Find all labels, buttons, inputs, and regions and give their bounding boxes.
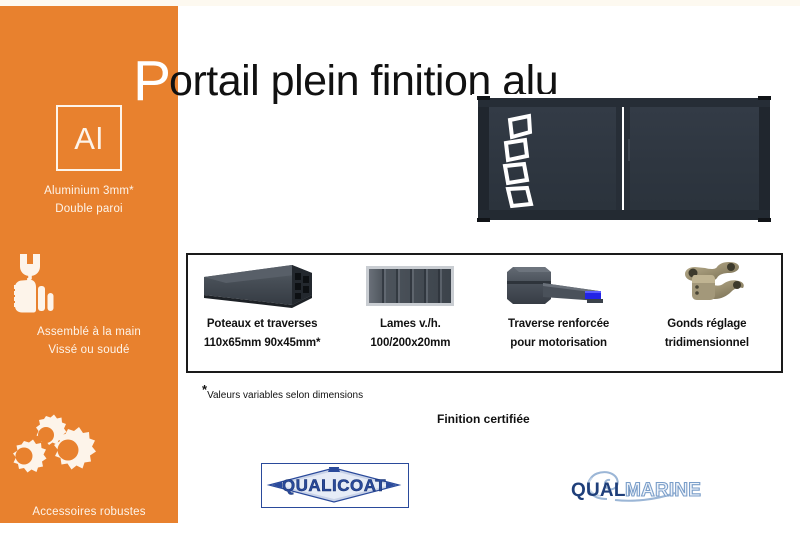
- gate-photo: [472, 94, 783, 228]
- product-item-lames-dimensions: 100/200x20mm: [370, 335, 450, 352]
- gears-icon: [0, 410, 178, 490]
- sidebar-feature-accessories-line1: Accessoires robustes: [0, 504, 178, 522]
- sidebar-feature-aluminium: Al Aluminium 3mm* Double paroi: [0, 105, 178, 219]
- product-item-poteaux: Poteaux et traverses 110x65mm 90x45mm*: [188, 255, 336, 371]
- product-item-traverse-name: Traverse renforcée: [508, 316, 609, 333]
- sidebar-feature-aluminium-line2: Double paroi: [0, 201, 178, 219]
- aluminium-square-icon: Al: [0, 105, 178, 171]
- svg-text:QUALICOAT: QUALICOAT: [282, 476, 386, 495]
- sidebar-feature-assembly-line1: Assemblé à la main: [0, 324, 178, 342]
- hand-wrench-icon: [0, 252, 178, 314]
- sidebar-feature-aluminium-line1: Aluminium 3mm*: [0, 183, 178, 201]
- post-profile-icon: [200, 260, 324, 312]
- svg-text:QUALI: QUALI: [571, 480, 631, 501]
- sidebar-feature-assembly-line2: Vissé ou soudé: [0, 342, 178, 360]
- product-item-gonds-name: Gonds réglage: [667, 316, 746, 333]
- product-item-poteaux-name: Poteaux et traverses: [207, 316, 318, 333]
- aluminium-icon-label: Al: [74, 123, 104, 154]
- slats-panel-icon: [362, 260, 458, 312]
- qualicoat-logo: QUALICOAT: [261, 463, 409, 508]
- page-title-initial: P: [133, 49, 169, 113]
- product-item-traverse-dimensions: pour motorisation: [510, 335, 607, 352]
- product-item-lames: Lames v./h. 100/200x20mm: [336, 255, 484, 371]
- certification-heading: Finition certifiée: [437, 412, 530, 426]
- svg-text:MARINE: MARINE: [625, 480, 701, 501]
- hinge-icon: [665, 260, 749, 312]
- product-item-traverse: Traverse renforcée pour motorisation: [485, 255, 633, 371]
- poster-page: Al Aluminium 3mm* Double paroi: [0, 0, 800, 534]
- sidebar-feature-assembly: Assemblé à la main Vissé ou soudé: [0, 252, 178, 360]
- product-item-gonds-dimensions: tridimensionnel: [665, 335, 749, 352]
- qualimarine-logo: QUALI MARINE: [563, 466, 713, 508]
- footnote: *Valeurs variables selon dimensions: [202, 382, 363, 401]
- product-list: Poteaux et traverses 110x65mm 90x45mm*: [188, 255, 781, 371]
- reinforced-crossbar-icon: [499, 260, 619, 312]
- product-item-lames-name: Lames v./h.: [380, 316, 441, 333]
- footnote-text: Valeurs variables selon dimensions: [207, 390, 363, 401]
- product-specs-box: Poteaux et traverses 110x65mm 90x45mm*: [186, 253, 783, 373]
- product-item-poteaux-dimensions: 110x65mm 90x45mm*: [204, 335, 321, 352]
- product-item-gonds: Gonds réglage tridimensionnel: [633, 255, 781, 371]
- sidebar-feature-accessories: Accessoires robustes: [0, 410, 178, 522]
